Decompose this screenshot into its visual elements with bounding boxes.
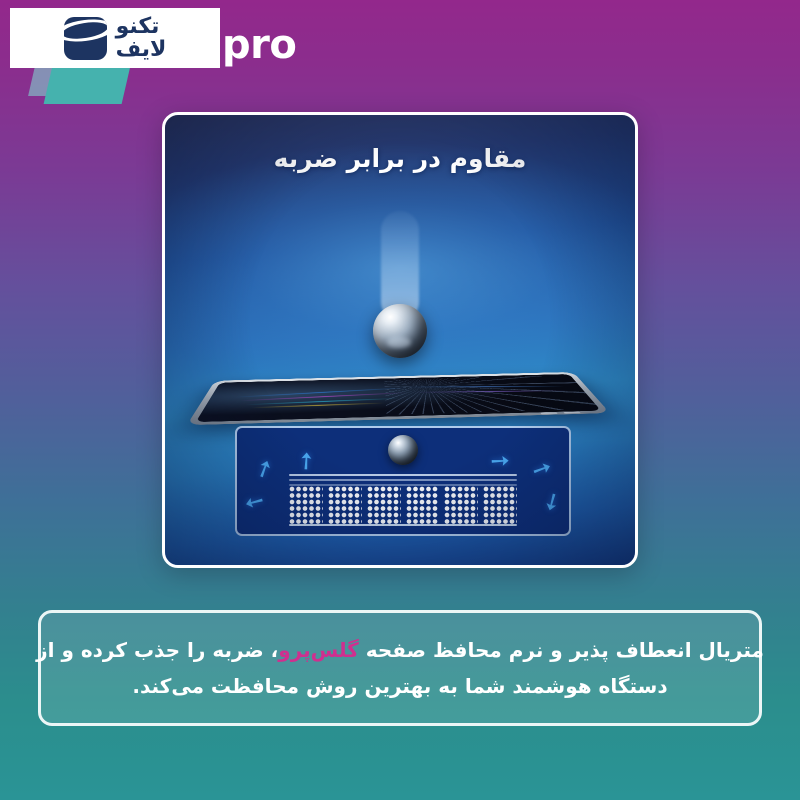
bead-column	[328, 486, 362, 526]
brand-block: pro تکنو لایف	[0, 0, 300, 110]
logo-plate[interactable]: تکنو لایف	[10, 8, 220, 68]
logo-wordmark: تکنو لایف	[116, 16, 167, 61]
diagram-bead-columns	[289, 486, 517, 526]
accent-shape-front	[44, 66, 131, 104]
impact-crack-pattern	[384, 375, 600, 415]
tablet-screen	[196, 374, 601, 422]
steel-ball-icon	[373, 304, 427, 358]
bead-column	[289, 486, 323, 526]
diagram-membrane	[289, 474, 517, 486]
caption-line-1: متریال انعطاف پذیر و نرم محافظ صفحه گلس‌…	[36, 637, 764, 664]
card-title: مقاوم در برابر ضربه	[165, 144, 635, 173]
caption-text-before: متریال انعطاف پذیر و نرم محافظ صفحه	[359, 638, 764, 662]
tablet-device	[187, 372, 610, 425]
bead-column	[367, 486, 401, 526]
energy-arrow-right-lower-icon: ➚	[537, 487, 565, 517]
diagram-base-line	[289, 524, 517, 526]
caption-line-2: دستگاه هوشمند شما به بهترین روش محافظت م…	[132, 673, 667, 700]
shock-absorption-diagram: ➚ ➚ ➚ ➚ ➚ ➚	[235, 426, 571, 536]
caption-text-after: ، ضربه را جذب کرده و از	[36, 638, 278, 662]
caption-box: متریال انعطاف پذیر و نرم محافظ صفحه گلس‌…	[38, 610, 762, 726]
energy-arrow-right-upper-icon: ➚	[528, 455, 555, 484]
product-media-card: مقاوم در برابر ضربه	[162, 112, 638, 568]
diagram-steel-ball-icon	[388, 435, 418, 465]
pro-wordmark: pro	[222, 22, 296, 68]
tablet-speaker-right	[540, 412, 558, 414]
techno-life-logo-icon	[64, 17, 107, 60]
bead-column	[406, 486, 440, 526]
energy-arrow-right-inner-icon: ➚	[485, 447, 515, 477]
logo-line-1: تکنو	[116, 16, 160, 38]
tablet-body	[187, 372, 610, 425]
promo-banner: pro تکنو لایف مقاوم در برابر ضربه	[0, 0, 800, 800]
energy-arrow-left-lower-icon: ➚	[241, 487, 269, 517]
bead-column	[483, 486, 517, 526]
tablet-speaker-left	[563, 412, 581, 414]
energy-arrow-left-upper-icon: ➚	[251, 455, 278, 484]
caption-brand-word: گلس‌پرو	[278, 638, 358, 662]
bead-column	[444, 486, 478, 526]
logo-line-2: لایف	[116, 39, 167, 61]
energy-arrow-left-inner-icon: ➚	[292, 447, 322, 477]
